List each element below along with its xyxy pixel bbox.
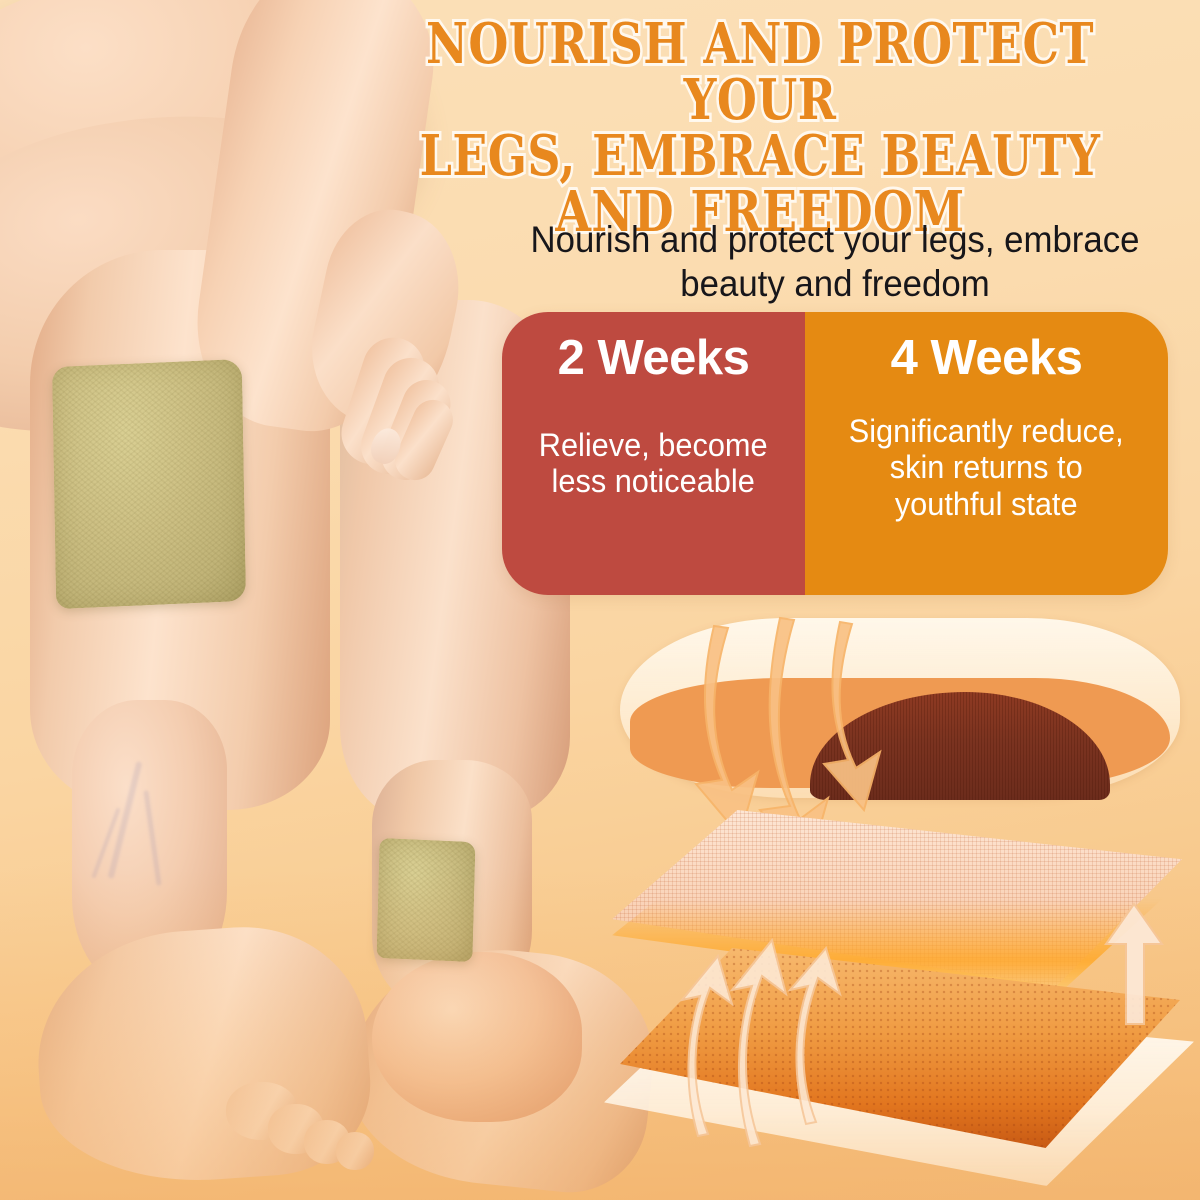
subtitle: Nourish and protect your legs, embrace b… <box>492 218 1178 305</box>
subtitle-line-2: beauty and freedom <box>680 263 989 304</box>
panel-four-weeks-body-line-2: skin returns to <box>890 449 1083 485</box>
absorption-arrow-down-icon <box>816 618 926 818</box>
panel-four-weeks-body-line-1: Significantly reduce, <box>849 413 1124 449</box>
timeline-comparison-card: 2 Weeks Relieve, become less noticeable … <box>502 312 1168 595</box>
panel-two-weeks: 2 Weeks Relieve, become less noticeable <box>502 312 805 595</box>
panel-four-weeks-body-line-3: youthful state <box>895 486 1078 522</box>
headline-line-1: NOURISH AND PROTECT YOUR <box>407 16 1112 128</box>
toe <box>336 1132 374 1170</box>
release-arrow-up-icon <box>1098 900 1170 1030</box>
release-arrow-up-icon <box>782 944 862 1129</box>
panel-two-weeks-title: 2 Weeks <box>558 334 750 383</box>
panel-four-weeks-title: 4 Weeks <box>891 334 1083 383</box>
panel-four-weeks-body: Significantly reduce, skin returns to yo… <box>849 413 1124 522</box>
calf-patch <box>52 359 246 609</box>
panel-two-weeks-body: Relieve, become less noticeable <box>539 427 768 500</box>
headline-line-2: LEGS, EMBRACE BEAUTY <box>407 128 1112 184</box>
subtitle-line-1: Nourish and protect your legs, embrace <box>531 219 1140 260</box>
page-title: NOURISH AND PROTECT YOUR LEGS, EMBRACE B… <box>407 16 1112 240</box>
product-ad-banner: NOURISH AND PROTECT YOUR LEGS, EMBRACE B… <box>0 0 1200 1200</box>
panel-four-weeks: 4 Weeks Significantly reduce, skin retur… <box>805 312 1168 595</box>
rear-heel <box>372 952 582 1122</box>
panel-two-weeks-body-line-2: less noticeable <box>552 463 755 499</box>
patch-layers-illustration <box>600 600 1200 1160</box>
panel-two-weeks-body-line-1: Relieve, become <box>539 427 768 463</box>
ankle-patch <box>376 838 475 962</box>
